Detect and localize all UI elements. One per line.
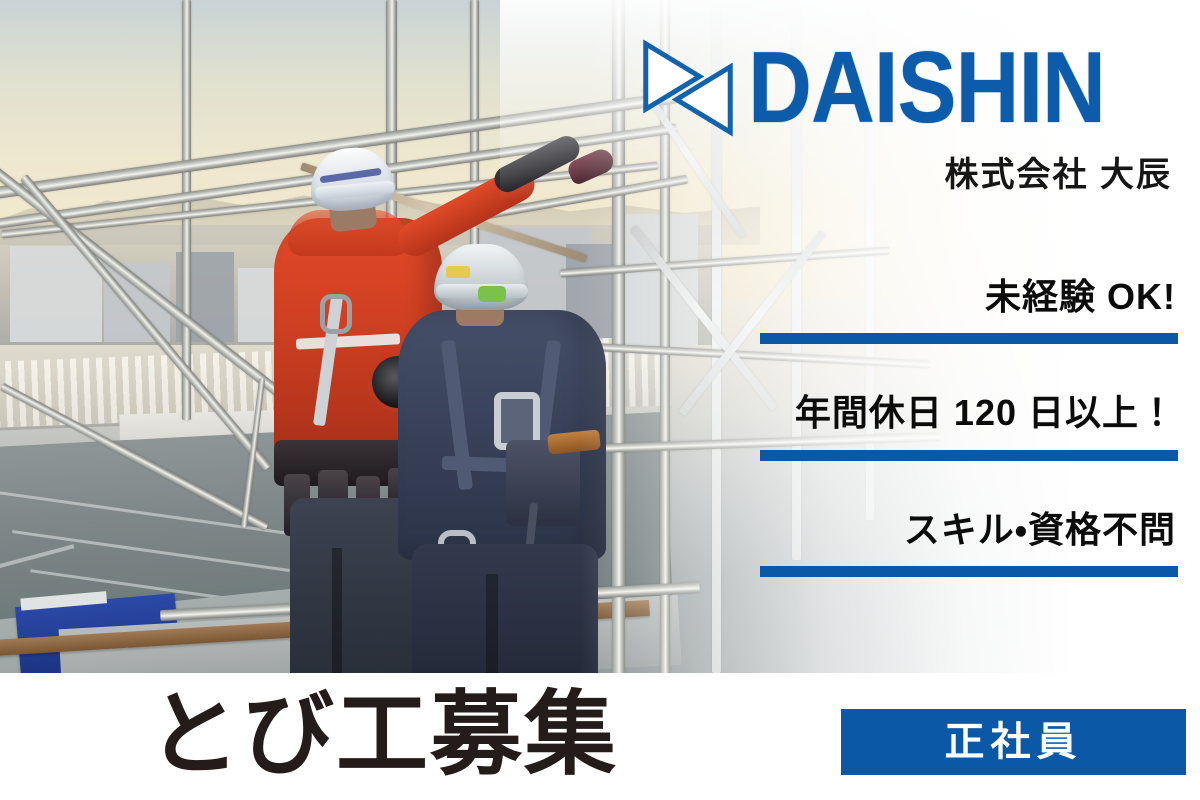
brand-lockup: DAISHIN bbox=[640, 34, 1180, 142]
daishin-x-mark-icon bbox=[640, 38, 736, 138]
feature-label: スキル・資格不問 bbox=[760, 509, 1180, 550]
safety-helmet-icon bbox=[434, 244, 528, 310]
feature-item-skills: スキル・資格不問 bbox=[760, 509, 1180, 577]
worker-observing bbox=[398, 244, 628, 673]
job-title-headline: とび工募集 bbox=[148, 687, 618, 784]
feature-underline bbox=[760, 333, 1178, 344]
feature-label: 年間休日 120 日以上！ bbox=[760, 392, 1180, 433]
feature-item-holidays: 年間休日 120 日以上！ bbox=[760, 392, 1180, 460]
feature-label: 未経験 OK! bbox=[760, 276, 1180, 317]
employment-type-badge: 正社員 bbox=[841, 709, 1186, 775]
safety-helmet-icon bbox=[307, 144, 396, 213]
recruitment-poster: DAISHIN 株式会社 大辰 未経験 OK! 年間休日 120 日以上！ スキ… bbox=[0, 0, 1200, 800]
company-name: 株式会社 大辰 bbox=[945, 147, 1172, 196]
feature-underline bbox=[760, 566, 1178, 577]
harness-d-ring bbox=[320, 294, 352, 334]
tool-pouch bbox=[506, 440, 580, 526]
brand-wordmark: DAISHIN bbox=[748, 38, 1105, 137]
feature-underline bbox=[760, 450, 1178, 461]
feature-list: 未経験 OK! 年間休日 120 日以上！ スキル・資格不問 bbox=[760, 276, 1180, 625]
feature-item-experience: 未経験 OK! bbox=[760, 276, 1180, 344]
employment-type-label: 正社員 bbox=[945, 722, 1083, 762]
